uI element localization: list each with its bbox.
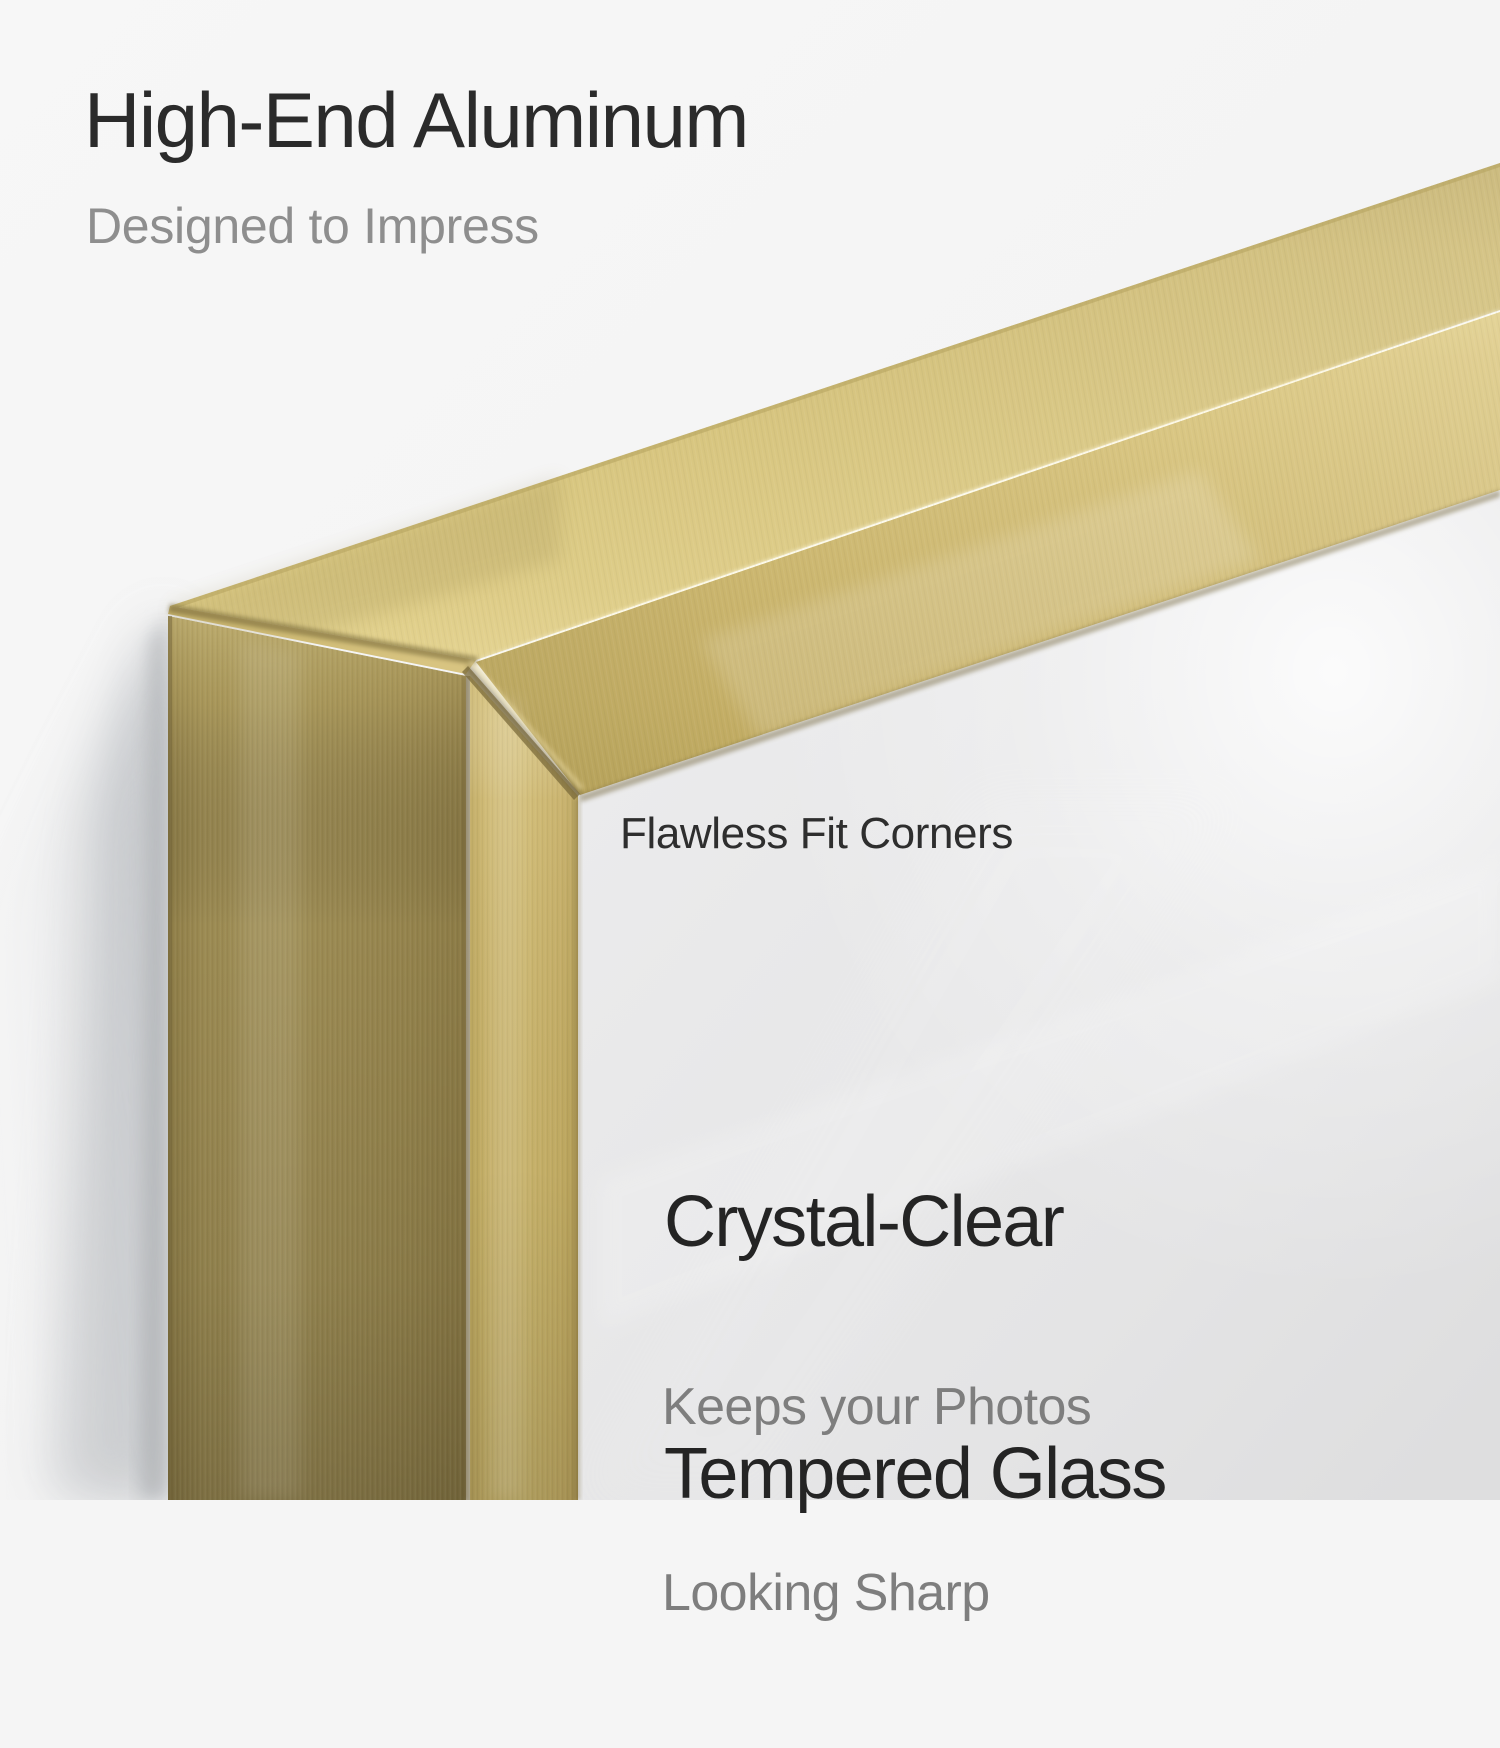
- product-feature-image: High-End Aluminum Designed to Impress Fl…: [0, 0, 1500, 1500]
- page-subtitle: Designed to Impress: [86, 198, 539, 254]
- page-title: High-End Aluminum: [84, 78, 748, 162]
- callout-glass-subtitle: Keeps your Photos Looking Sharp: [662, 1252, 1091, 1748]
- callout-flawless-fit-corners: Flawless Fit Corners: [620, 808, 1013, 860]
- callout-glass-subtitle-line1: Keeps your Photos: [662, 1376, 1091, 1438]
- callout-glass-subtitle-line2: Looking Sharp: [662, 1562, 1091, 1624]
